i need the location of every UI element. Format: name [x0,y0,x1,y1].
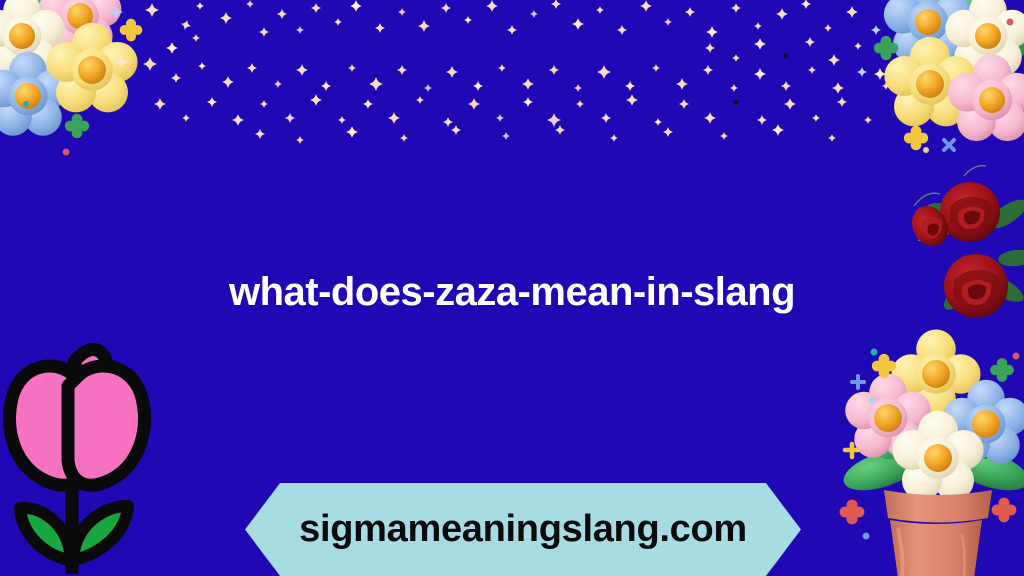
tulip-flower-icon [10,349,145,574]
pot-flower-cream [892,411,983,501]
sparkle-four-point-icon [597,65,611,79]
sparkle-four-point-icon [555,125,565,135]
sparkle-four-point-icon [424,84,432,92]
sparkle-four-point-icon [812,114,820,122]
flower-blue-tr [884,0,972,63]
sparkle-four-point-icon [652,64,660,72]
sparkle-four-point-icon [277,9,287,19]
sparkle-four-point-icon [260,100,268,108]
sparkle-four-point-icon [549,65,559,75]
sparkle-four-point-icon [247,63,257,73]
sparkle-field [143,0,890,144]
sparkle-four-point-icon [296,136,304,144]
sparkle-four-point-icon [321,81,331,91]
sparkle-four-point-icon [705,43,715,53]
sparkle-four-point-icon [441,3,451,13]
site-banner-label: sigmameaningslang.com [299,508,747,551]
sparkle-four-point-icon [782,52,790,60]
sparkle-four-point-icon [626,94,638,106]
sparkle-four-point-icon [784,98,796,110]
sparkle-four-point-icon [464,16,472,24]
sparkle-four-point-icon [255,129,265,139]
sparkle-four-point-icon [731,3,741,13]
sparkle-four-point-icon [572,18,584,30]
sparkle-four-point-icon [350,0,362,12]
sparkle-four-point-icon [296,64,308,76]
sparkle-four-point-icon [703,65,713,75]
sparkle-four-point-icon [363,99,373,109]
sparkle-four-point-icon [145,3,159,17]
sparkle-four-point-icon [310,94,322,106]
sparkle-four-point-icon [507,25,517,35]
sparkle-four-point-icon [296,26,304,34]
sparkle-four-point-icon [143,57,157,71]
sparkle-four-point-icon [882,82,890,90]
flower-yellow-tl [46,23,137,113]
sparkle-four-point-icon [776,8,788,20]
potted-flowers-icon [839,329,1024,576]
sparkle-four-point-icon [781,81,791,91]
sparkle-four-point-icon [551,0,561,9]
sparkle-four-point-icon [704,112,716,124]
sparkle-four-point-icon [832,82,844,94]
sparkle-four-point-icon [732,54,740,62]
sparkle-four-point-icon [663,127,673,137]
sparkle-four-point-icon [369,77,383,91]
sparkle-four-point-icon [576,100,584,108]
sparkle-four-point-icon [166,42,178,54]
sparkle-four-point-icon [805,37,815,47]
sparkle-four-point-icon [610,134,618,142]
sparkle-four-point-icon [601,113,611,123]
sparkle-four-point-icon [824,24,832,32]
poster-canvas: what-does-zaza-mean-in-slang sigmameanin… [0,0,1024,576]
sparkle-four-point-icon [398,8,406,16]
sparkle-four-point-icon [523,97,533,107]
top-left-flower-cluster [0,0,142,155]
sparkle-four-point-icon [828,54,840,66]
sparkle-four-point-icon [338,116,346,124]
sparkle-four-point-icon [754,22,762,30]
sparkle-four-point-icon [730,84,738,92]
sparkle-four-point-icon [772,124,784,136]
pot-flower-yellow [891,329,980,418]
sparkle-four-point-icon [640,0,652,12]
sparkle-four-point-icon [259,27,269,37]
terracotta-pot [884,490,992,576]
sparkle-four-point-icon [222,76,234,88]
sparkle-four-point-icon [171,73,181,83]
sparkle-four-point-icon [180,19,192,31]
sparkle-four-point-icon [246,0,254,8]
sparkle-four-point-icon [348,64,356,72]
sparkle-four-point-icon [720,132,728,140]
top-left-confetti [23,5,142,156]
sparkle-four-point-icon [182,114,190,122]
sparkle-four-point-icon [864,116,872,124]
pot-flower-blue [943,380,1024,464]
sparkle-four-point-icon [846,6,858,18]
sparkle-four-point-icon [522,78,534,90]
sparkle-four-point-icon [679,99,689,109]
sparkle-four-point-icon [754,38,766,50]
sparkle-four-point-icon [857,67,867,77]
sparkle-four-point-icon [346,126,358,138]
sparkle-four-point-icon [416,96,424,104]
sparkle-four-point-icon [207,97,217,107]
flower-blue-tl [0,52,71,136]
sparkle-four-point-icon [397,65,407,75]
sparkle-four-point-icon [388,112,400,124]
rose-large-top [940,182,1000,242]
sparkle-four-point-icon [451,125,461,135]
flower-cream-tr [945,0,1024,76]
sparkle-four-point-icon [547,113,561,127]
sparkle-four-point-icon [498,64,506,72]
sparkle-four-point-icon [496,114,504,122]
sparkle-four-point-icon [468,98,480,110]
sparkle-four-point-icon [473,81,483,91]
sparkle-four-point-icon [828,134,836,142]
sparkle-four-point-icon [732,98,740,106]
rose-small-left [905,199,955,252]
sparkle-four-point-icon [486,0,498,12]
flower-cream-tl [0,0,65,76]
sparkle-four-point-icon [706,26,718,38]
sparkle-four-point-icon [801,0,811,9]
sparkle-four-point-icon [676,78,688,90]
sparkle-four-point-icon [198,62,206,70]
sparkle-four-point-icon [502,132,510,140]
sparkle-four-point-icon [617,25,627,35]
sparkle-four-point-icon [808,66,816,74]
site-banner: sigmameaningslang.com [245,483,801,576]
sparkle-four-point-icon [654,118,662,126]
flower-yellow-tr [884,37,975,127]
sparkle-four-point-icon [754,68,766,80]
sparkle-four-point-icon [596,6,604,14]
sparkle-four-point-icon [311,3,321,13]
sparkle-four-point-icon [220,12,232,24]
sparkle-four-point-icon [837,97,847,107]
sparkle-four-point-icon [274,80,282,88]
sparkle-four-point-icon [664,18,672,26]
sparkle-four-point-icon [196,2,204,10]
sparkle-four-point-icon [285,113,295,123]
sparkle-four-point-icon [232,114,244,126]
pot-confetti [840,349,1020,540]
sparkle-four-point-icon [192,34,200,42]
page-title: what-does-zaza-mean-in-slang [0,268,1024,316]
top-right-confetti [874,19,1014,154]
pot-flower-pink [845,374,931,458]
top-right-flower-cluster [874,0,1024,153]
sparkle-four-point-icon [685,7,695,17]
sparkle-four-point-icon [625,81,635,91]
sparkle-four-point-icon [400,134,408,142]
sparkle-four-point-icon [530,10,538,18]
sparkle-four-point-icon [418,20,430,32]
sparkle-four-point-icon [443,117,453,127]
flower-pink-tr [948,54,1024,141]
sparkle-four-point-icon [871,25,881,35]
sparkle-four-point-icon [757,115,767,125]
sparkle-four-point-icon [574,84,582,92]
sparkle-four-point-icon [334,18,342,26]
sparkle-four-point-icon [154,98,166,110]
sparkle-four-point-icon [375,23,385,33]
sparkle-four-point-icon [854,42,862,50]
sparkle-four-point-icon [446,66,458,78]
flower-pink-tl [39,0,122,54]
